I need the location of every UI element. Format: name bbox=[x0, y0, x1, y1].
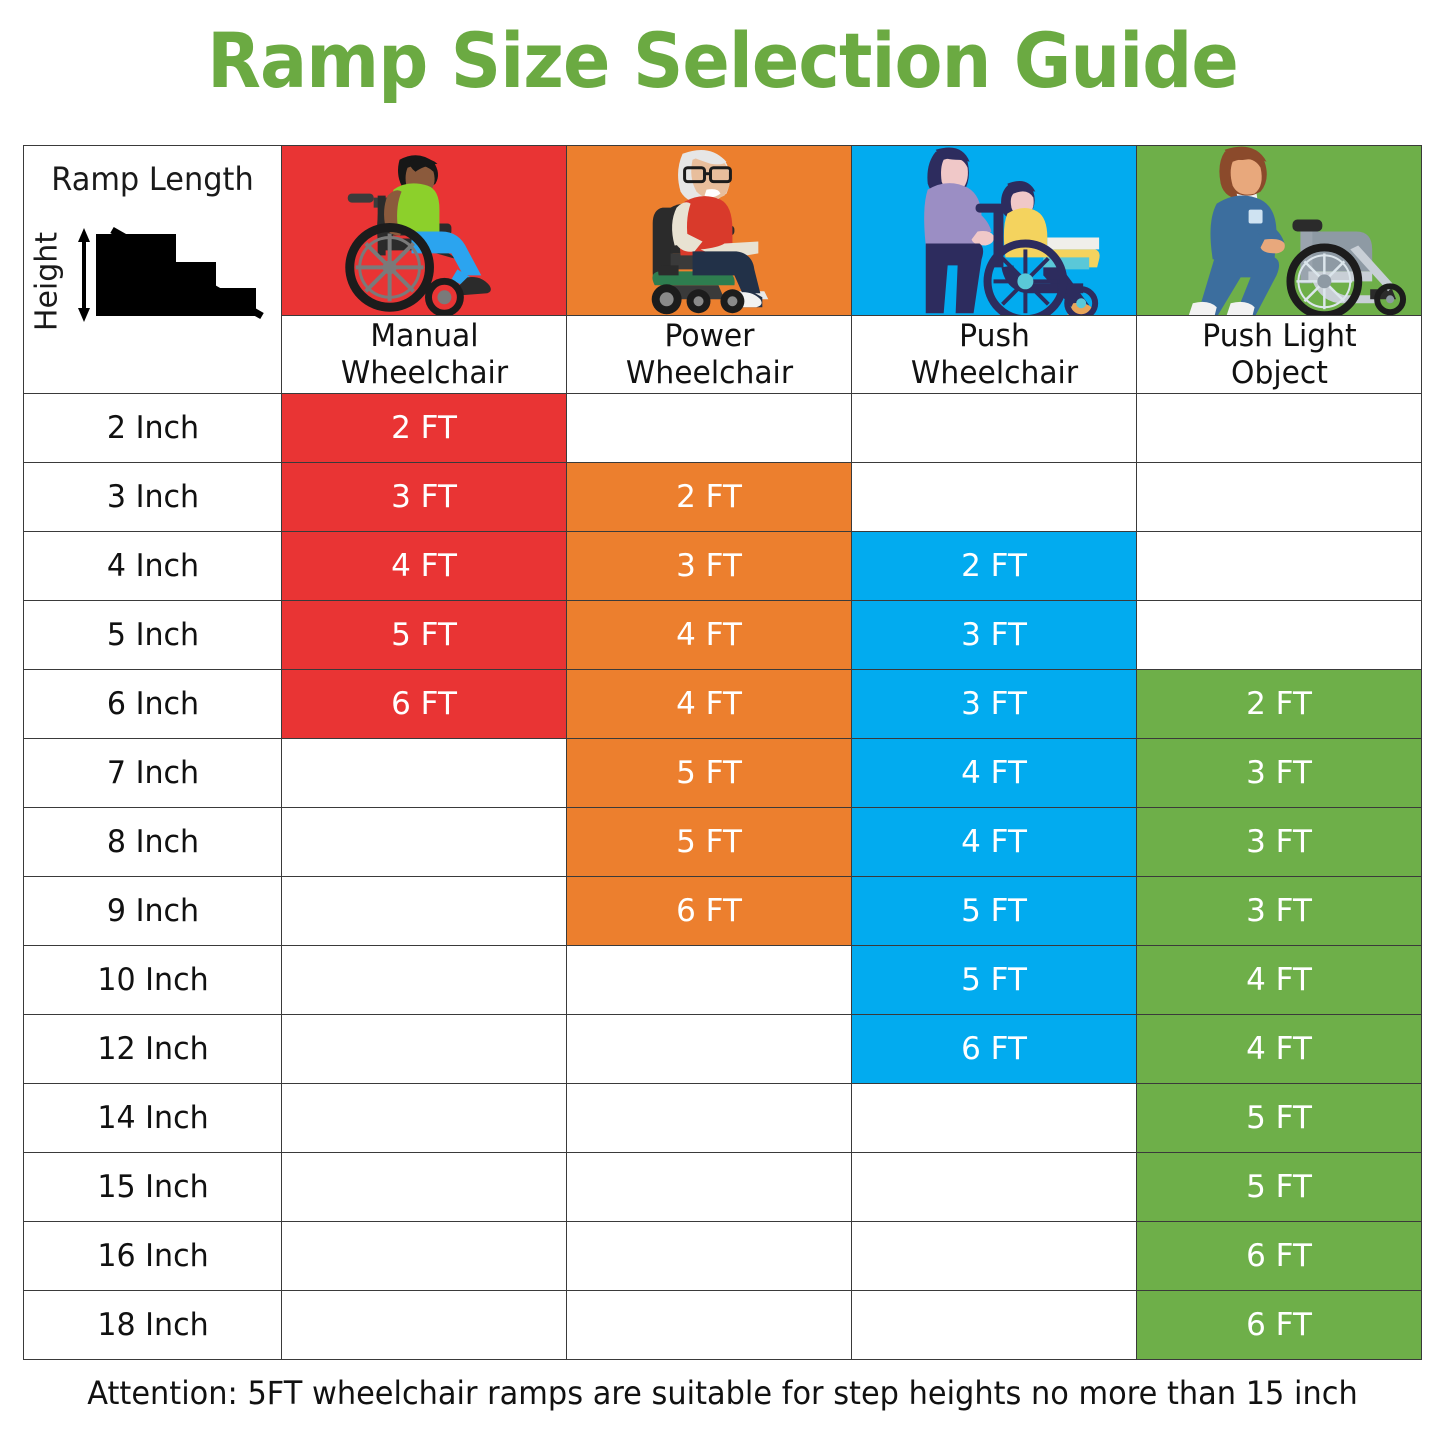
cell-push-6-inch: 3 FT bbox=[852, 670, 1137, 739]
cell-manual-9-inch bbox=[282, 877, 567, 946]
column-header-power: Power Wheelchair bbox=[572, 316, 846, 394]
cell-power-6-inch: 4 FT bbox=[567, 670, 852, 739]
cell-light-6-inch: 2 FT bbox=[1137, 670, 1422, 739]
cell-power-18-inch bbox=[567, 1291, 852, 1360]
row-header-height: 5 Inch bbox=[27, 601, 277, 670]
column-header-manual: Manual Wheelchair bbox=[287, 316, 561, 394]
row-header-height: 12 Inch bbox=[27, 1015, 277, 1084]
row-header-height: 4 Inch bbox=[27, 532, 277, 601]
height-label: Height bbox=[30, 207, 65, 357]
cell-light-14-inch: 5 FT bbox=[1137, 1084, 1422, 1153]
cell-power-5-inch: 4 FT bbox=[567, 601, 852, 670]
manual-wheelchair-icon bbox=[282, 146, 566, 315]
column-header-light-line1: Push Light bbox=[1143, 318, 1416, 355]
cell-light-15-inch: 5 FT bbox=[1137, 1153, 1422, 1222]
cell-manual-7-inch bbox=[282, 739, 567, 808]
cell-manual-18-inch bbox=[282, 1291, 567, 1360]
table-header-image-row: Ramp Length Height bbox=[24, 146, 1422, 316]
cell-push-12-inch: 6 FT bbox=[852, 1015, 1137, 1084]
cell-push-9-inch: 5 FT bbox=[852, 877, 1137, 946]
cell-light-8-inch: 3 FT bbox=[1137, 808, 1422, 877]
push-light-object-icon bbox=[1137, 146, 1421, 315]
cell-light-7-inch: 3 FT bbox=[1137, 739, 1422, 808]
cell-light-5-inch bbox=[1137, 601, 1422, 670]
row-header-height: 10 Inch bbox=[27, 946, 277, 1015]
column-header-light-line2: Object bbox=[1143, 355, 1416, 392]
cell-light-16-inch: 6 FT bbox=[1137, 1222, 1422, 1291]
cell-power-16-inch bbox=[567, 1222, 852, 1291]
table-row: 12 Inch6 FT4 FT bbox=[24, 1015, 1422, 1084]
table-row: 8 Inch5 FT4 FT3 FT bbox=[24, 808, 1422, 877]
cell-manual-4-inch: 4 FT bbox=[282, 532, 567, 601]
column-header-push-line1: Push bbox=[858, 318, 1131, 355]
cell-manual-6-inch: 6 FT bbox=[282, 670, 567, 739]
cell-push-18-inch bbox=[852, 1291, 1137, 1360]
table-row: 4 Inch4 FT3 FT2 FT bbox=[24, 532, 1422, 601]
row-header-height: 2 Inch bbox=[27, 394, 277, 463]
cell-manual-2-inch: 2 FT bbox=[282, 394, 567, 463]
ramp-size-table: Ramp Length Height bbox=[23, 145, 1422, 1360]
cell-light-4-inch bbox=[1137, 532, 1422, 601]
row-header-height: 6 Inch bbox=[27, 670, 277, 739]
row-header-height: 7 Inch bbox=[27, 739, 277, 808]
table-row: 5 Inch5 FT4 FT3 FT bbox=[24, 601, 1422, 670]
cell-light-9-inch: 3 FT bbox=[1137, 877, 1422, 946]
push-wheelchair-icon bbox=[852, 146, 1136, 315]
cell-push-16-inch bbox=[852, 1222, 1137, 1291]
column-header-power-line1: Power bbox=[573, 318, 846, 355]
header-image-manual bbox=[282, 146, 567, 316]
ramp-size-selection-guide-page: Ramp Size Selection Guide Ramp Length He… bbox=[0, 0, 1445, 1445]
cell-push-8-inch: 4 FT bbox=[852, 808, 1137, 877]
cell-power-12-inch bbox=[567, 1015, 852, 1084]
attention-note: Attention: 5FT wheelchair ramps are suit… bbox=[36, 1374, 1409, 1412]
cell-manual-5-inch: 5 FT bbox=[282, 601, 567, 670]
cell-manual-3-inch: 3 FT bbox=[282, 463, 567, 532]
column-header-light: Push Light Object bbox=[1142, 316, 1416, 394]
cell-power-9-inch: 6 FT bbox=[567, 877, 852, 946]
row-header-height: 9 Inch bbox=[27, 877, 277, 946]
header-image-power bbox=[567, 146, 852, 316]
table-row: 7 Inch5 FT4 FT3 FT bbox=[24, 739, 1422, 808]
table-row: 2 Inch2 FT bbox=[24, 394, 1422, 463]
ramp-length-label: Ramp Length bbox=[30, 160, 274, 198]
column-header-power-line2: Wheelchair bbox=[573, 355, 846, 392]
stairs-with-ramp-diagram-icon bbox=[66, 204, 276, 324]
cell-light-18-inch: 6 FT bbox=[1137, 1291, 1422, 1360]
cell-light-3-inch bbox=[1137, 463, 1422, 532]
cell-power-10-inch bbox=[567, 946, 852, 1015]
cell-manual-10-inch bbox=[282, 946, 567, 1015]
corner-diagram-cell: Ramp Length Height bbox=[24, 146, 282, 394]
row-header-height: 15 Inch bbox=[27, 1153, 277, 1222]
table-row: 9 Inch6 FT5 FT3 FT bbox=[24, 877, 1422, 946]
cell-light-12-inch: 4 FT bbox=[1137, 1015, 1422, 1084]
table-row: 14 Inch5 FT bbox=[24, 1084, 1422, 1153]
cell-push-10-inch: 5 FT bbox=[852, 946, 1137, 1015]
cell-push-4-inch: 2 FT bbox=[852, 532, 1137, 601]
cell-manual-15-inch bbox=[282, 1153, 567, 1222]
cell-manual-8-inch bbox=[282, 808, 567, 877]
cell-push-3-inch bbox=[852, 463, 1137, 532]
table-row: 16 Inch6 FT bbox=[24, 1222, 1422, 1291]
header-image-push bbox=[852, 146, 1137, 316]
table-row: 15 Inch5 FT bbox=[24, 1153, 1422, 1222]
cell-power-7-inch: 5 FT bbox=[567, 739, 852, 808]
power-wheelchair-icon bbox=[567, 146, 851, 315]
cell-power-3-inch: 2 FT bbox=[567, 463, 852, 532]
table-row: 18 Inch6 FT bbox=[24, 1291, 1422, 1360]
table-row: 6 Inch6 FT4 FT3 FT2 FT bbox=[24, 670, 1422, 739]
cell-power-8-inch: 5 FT bbox=[567, 808, 852, 877]
row-header-height: 16 Inch bbox=[27, 1222, 277, 1291]
table-row: 3 Inch3 FT2 FT bbox=[24, 463, 1422, 532]
cell-power-15-inch bbox=[567, 1153, 852, 1222]
cell-power-14-inch bbox=[567, 1084, 852, 1153]
table-row: 10 Inch5 FT4 FT bbox=[24, 946, 1422, 1015]
cell-power-4-inch: 3 FT bbox=[567, 532, 852, 601]
column-header-push: Push Wheelchair bbox=[857, 316, 1131, 394]
column-header-manual-line1: Manual bbox=[288, 318, 561, 355]
cell-push-15-inch bbox=[852, 1153, 1137, 1222]
cell-power-2-inch bbox=[567, 394, 852, 463]
cell-manual-16-inch bbox=[282, 1222, 567, 1291]
cell-push-7-inch: 4 FT bbox=[852, 739, 1137, 808]
table-body: 2 Inch2 FT3 Inch3 FT2 FT4 Inch4 FT3 FT2 … bbox=[24, 394, 1422, 1360]
cell-manual-14-inch bbox=[282, 1084, 567, 1153]
row-header-height: 14 Inch bbox=[27, 1084, 277, 1153]
page-title: Ramp Size Selection Guide bbox=[58, 16, 1387, 106]
cell-push-2-inch bbox=[852, 394, 1137, 463]
row-header-height: 18 Inch bbox=[27, 1291, 277, 1360]
cell-light-2-inch bbox=[1137, 394, 1422, 463]
cell-manual-12-inch bbox=[282, 1015, 567, 1084]
cell-push-14-inch bbox=[852, 1084, 1137, 1153]
header-image-light bbox=[1137, 146, 1422, 316]
row-header-height: 3 Inch bbox=[27, 463, 277, 532]
column-header-manual-line2: Wheelchair bbox=[288, 355, 561, 392]
row-header-height: 8 Inch bbox=[27, 808, 277, 877]
cell-push-5-inch: 3 FT bbox=[852, 601, 1137, 670]
cell-light-10-inch: 4 FT bbox=[1137, 946, 1422, 1015]
column-header-push-line2: Wheelchair bbox=[858, 355, 1131, 392]
